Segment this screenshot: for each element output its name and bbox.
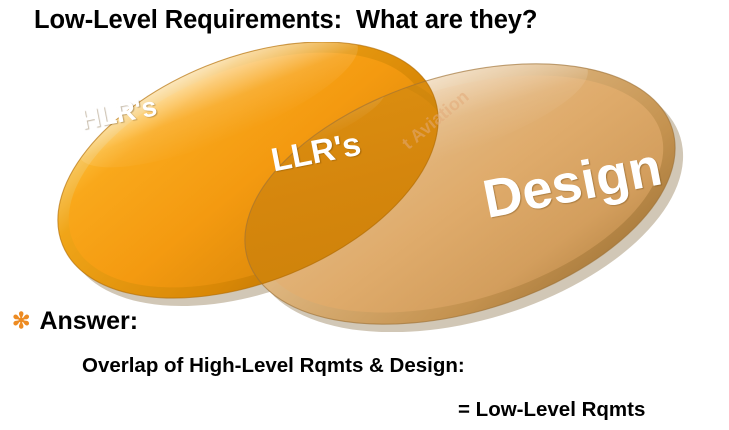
page-title: Low-Level Requirements: What are they? xyxy=(34,4,694,36)
answer-label: Answer: xyxy=(39,308,138,334)
asterisk-bullet-icon: ✻ xyxy=(12,308,30,332)
venn-diagram-svg xyxy=(0,42,729,332)
venn-diagram: t Aviation xyxy=(0,42,729,332)
slide-canvas: Low-Level Requirements: What are they? xyxy=(0,0,729,430)
answer-result-text: = Low-Level Rqmts xyxy=(458,398,645,422)
answer-bullet-line: ✻ Answer: xyxy=(12,308,138,334)
answer-overlap-text: Overlap of High-Level Rqmts & Design: xyxy=(82,354,465,378)
